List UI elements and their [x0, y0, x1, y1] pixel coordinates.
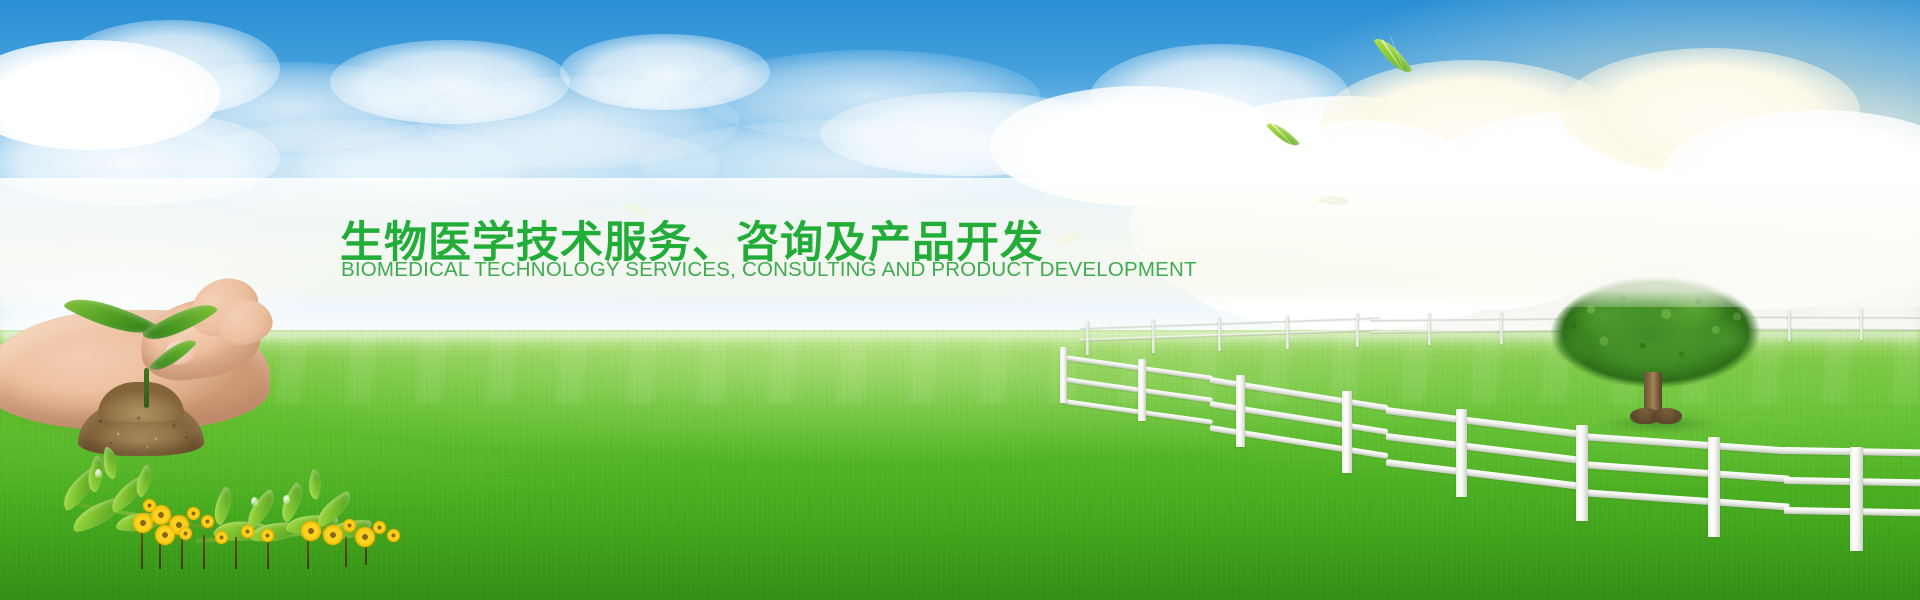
hero-banner: 生物医学技术服务、咨询及产品开发 BIOMEDICAL TECHNOLOGY S… — [0, 0, 1920, 600]
yellow-flower — [187, 507, 200, 520]
dew-drop — [251, 497, 258, 506]
dew-drop — [95, 469, 102, 478]
sprout-stem — [144, 368, 149, 408]
yellow-flower — [179, 527, 192, 540]
flower-stem — [141, 531, 143, 569]
page-subtitle: BIOMEDICAL TECHNOLOGY SERVICES, CONSULTI… — [341, 258, 1197, 282]
yellow-flower — [241, 525, 254, 538]
flower-stem — [345, 537, 347, 567]
plant-leaf — [303, 469, 327, 500]
white-fence — [1060, 325, 1920, 525]
tree-root-right — [1652, 408, 1682, 424]
yellow-flower — [355, 527, 375, 547]
yellow-flower — [133, 513, 153, 533]
yellow-flower — [323, 525, 343, 545]
flower-stem — [307, 539, 309, 569]
flower-stem — [235, 537, 237, 569]
yellow-flower — [343, 519, 356, 532]
yellow-flower — [215, 531, 228, 544]
dew-drop — [283, 495, 290, 504]
yellow-flower — [143, 499, 156, 512]
yellow-flower — [201, 515, 214, 528]
yellow-flower — [387, 529, 400, 542]
yellow-flower — [301, 521, 321, 541]
yellow-flower — [155, 525, 175, 545]
flower-stem — [203, 535, 205, 569]
foreground-plants — [55, 455, 415, 600]
hand-holding-sprout — [0, 150, 300, 430]
yellow-flower — [373, 521, 386, 534]
yellow-flower — [261, 529, 274, 542]
